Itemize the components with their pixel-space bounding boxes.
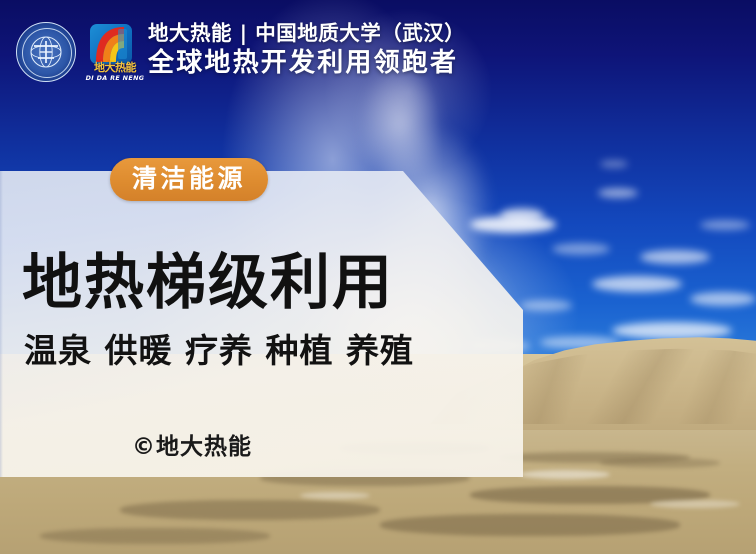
cloud [690, 292, 756, 306]
water-glint [650, 500, 740, 508]
poster-subtitle: 温泉 供暖 疗养 种植 养殖 [24, 330, 414, 372]
didareneng-logo: 地大热能 DI DA RE NENG [84, 24, 146, 84]
wet-patch [600, 458, 720, 468]
cloud [640, 250, 710, 264]
logo-cn-name: 地大热能 [84, 62, 146, 74]
copyright-notice: ©地大热能 [132, 432, 252, 462]
cloud [612, 322, 732, 339]
cloud [598, 188, 638, 198]
cloud [600, 160, 628, 168]
brand-header: 地大热能 DI DA RE NENG 地大热能 | 中国地质大学（武汉） 全球地… [0, 0, 756, 104]
rainbow-arc-icon [90, 24, 132, 64]
poster-title: 地热梯级利用 [22, 248, 394, 318]
seal-globe-glyph [26, 32, 66, 72]
cloud [592, 276, 682, 292]
university-seal-icon [16, 22, 76, 82]
header-text-block: 地大热能 | 中国地质大学（武汉） 全球地热开发利用领跑者 [148, 20, 465, 80]
logo-pinyin: DI DA RE NENG [84, 74, 146, 83]
header-line-1: 地大热能 | 中国地质大学（武汉） [148, 20, 465, 46]
water-glint [520, 470, 610, 479]
wet-patch [40, 528, 270, 544]
logo-square [90, 24, 132, 64]
water-glint [300, 492, 370, 499]
poster-canvas: 地大热能 DI DA RE NENG 地大热能 | 中国地质大学（武汉） 全球地… [0, 0, 756, 554]
cloud [700, 220, 750, 230]
header-line-2: 全球地热开发利用领跑者 [148, 46, 465, 80]
wet-patch [120, 500, 380, 520]
wet-patch [380, 514, 680, 536]
clean-energy-badge: 清洁能源 [110, 158, 268, 201]
